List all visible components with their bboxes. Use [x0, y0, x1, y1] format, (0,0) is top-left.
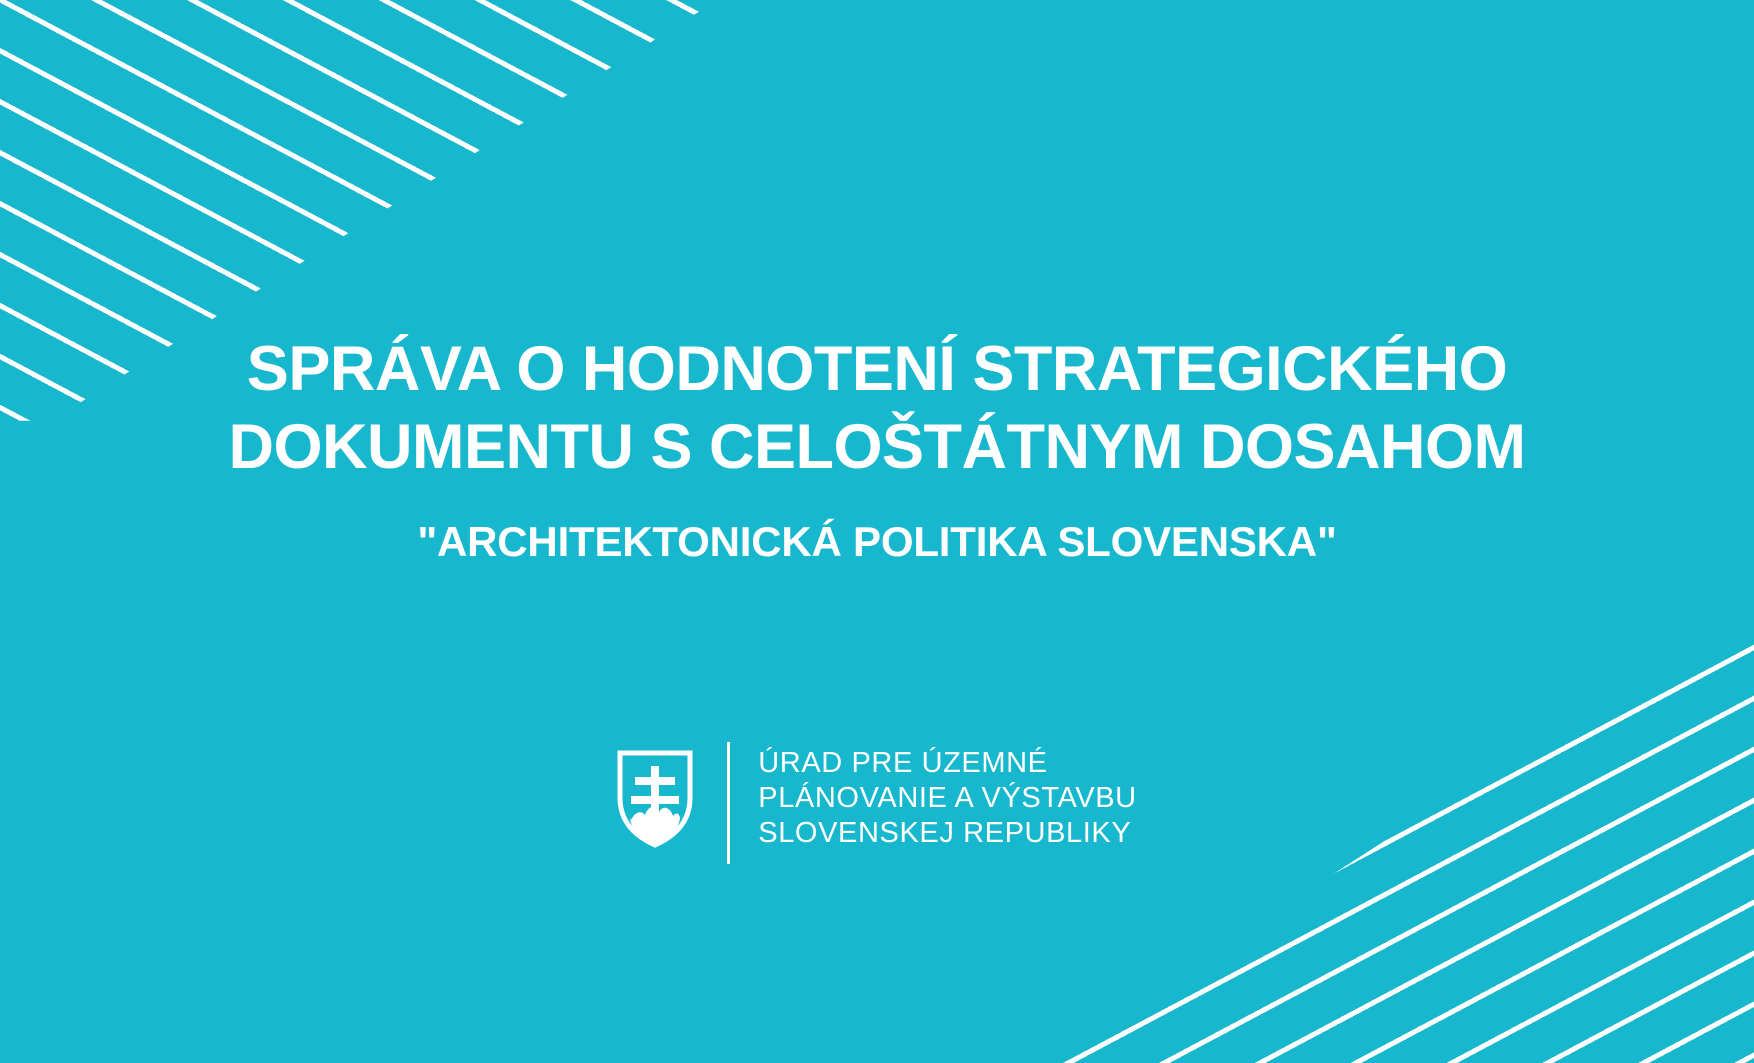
organisation-logo: ÚRAD PRE ÚZEMNÉ PLÁNOVANIE A VÝSTAVBU SL… — [0, 742, 1754, 864]
logo-text-line-2: PLÁNOVANIE A VÝSTAVBU — [758, 781, 1136, 816]
logo-divider — [727, 742, 730, 864]
logo-text-block: ÚRAD PRE ÚZEMNÉ PLÁNOVANIE A VÝSTAVBU SL… — [758, 742, 1136, 851]
logo-text-line-1: ÚRAD PRE ÚZEMNÉ — [758, 746, 1136, 781]
page-title: SPRÁVA O HODNOTENÍ STRATEGICKÉHO DOKUMEN… — [0, 330, 1754, 568]
title-line-2: DOKUMENTU S CELOŠTÁTNYM DOSAHOM — [0, 408, 1754, 486]
logo-text-line-3: SLOVENSKEJ REPUBLIKY — [758, 816, 1136, 851]
document-subtitle: "ARCHITEKTONICKÁ POLITIKA SLOVENSKA" — [0, 516, 1754, 568]
slovak-coat-of-arms-icon — [617, 750, 693, 848]
poster-cover: SPRÁVA O HODNOTENÍ STRATEGICKÉHO DOKUMEN… — [0, 0, 1754, 1063]
title-line-1: SPRÁVA O HODNOTENÍ STRATEGICKÉHO — [0, 330, 1754, 408]
